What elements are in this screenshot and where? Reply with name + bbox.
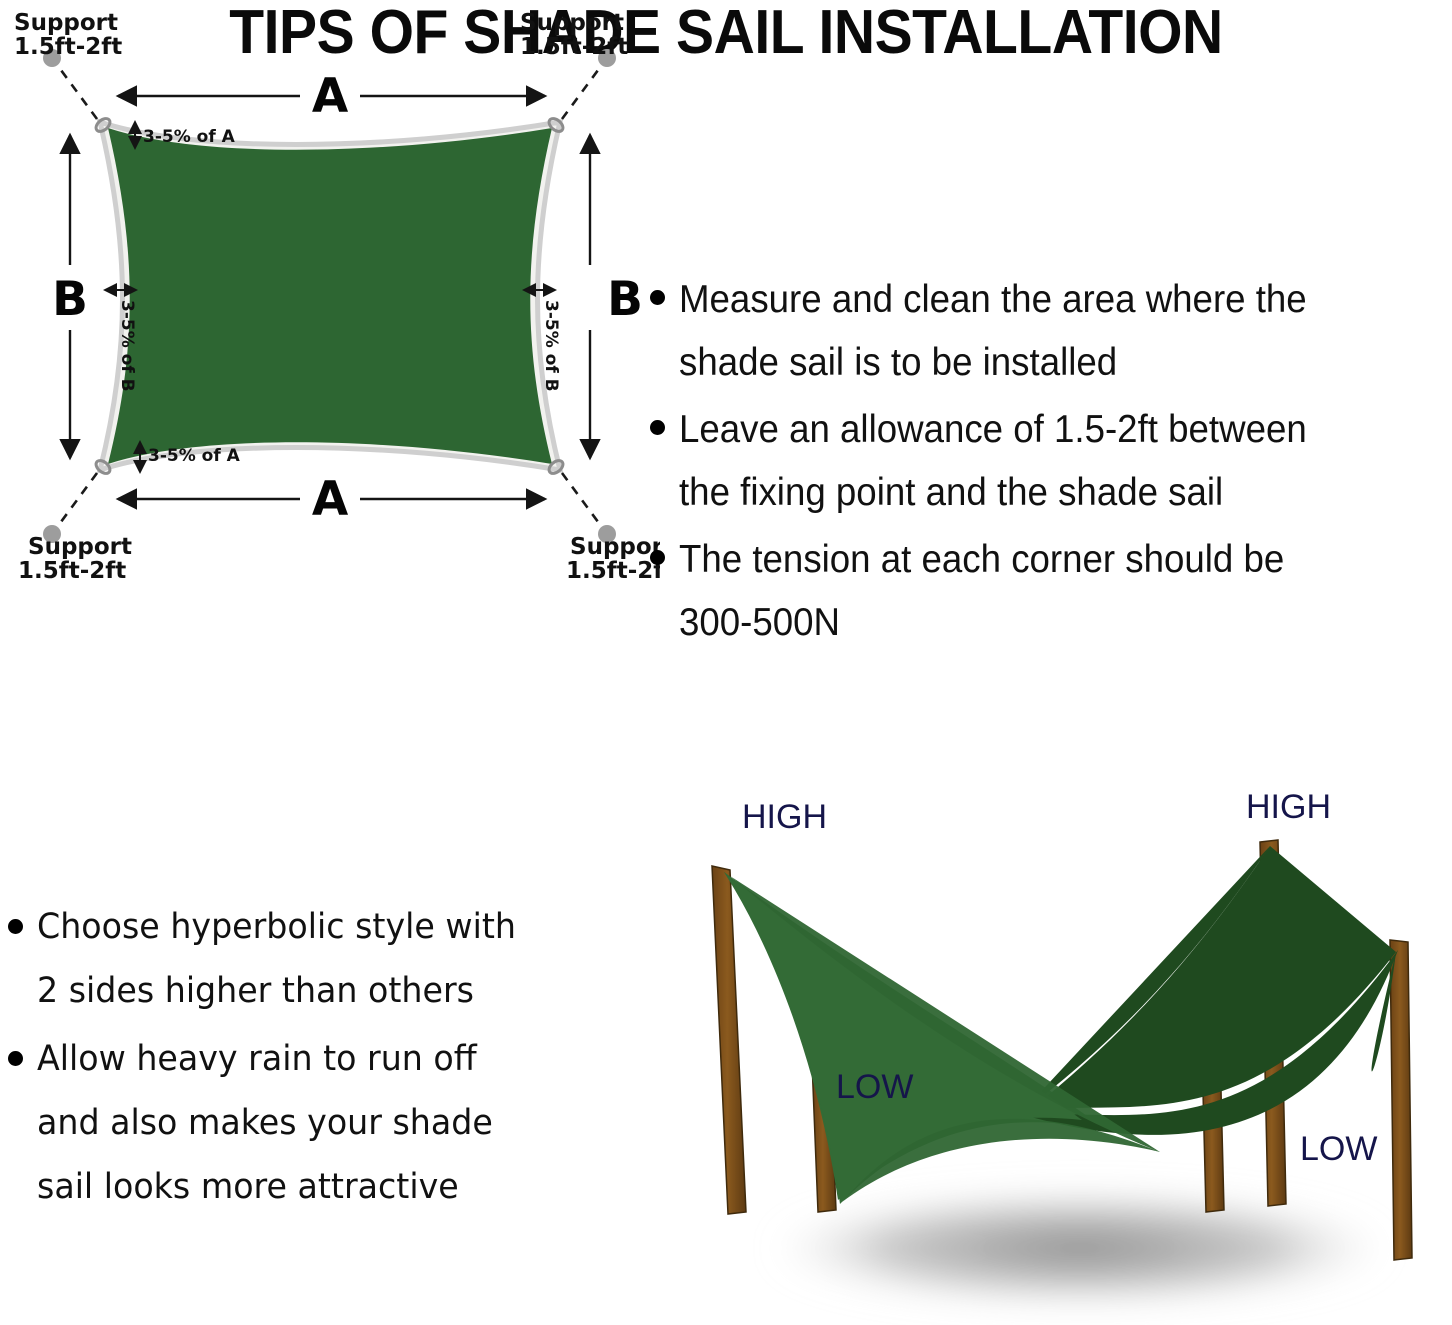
dimension-label-right-B: B bbox=[607, 272, 643, 327]
list-item: The tension at each corner should be 300… bbox=[650, 528, 1452, 654]
list-item: Measure and clean the area where the sha… bbox=[650, 268, 1452, 394]
support-label-bottom-right: Support 1.5ft-2ft bbox=[566, 534, 660, 580]
support-label-line2: 1.5ft-2ft bbox=[566, 558, 660, 580]
post-left-high bbox=[712, 866, 746, 1214]
bullet-dot-icon bbox=[650, 290, 665, 305]
support-label-top-right: Support 1.5ft-2ft bbox=[520, 10, 628, 60]
support-label-line2: 1.5ft-2ft bbox=[520, 34, 628, 60]
hyperbolic-sail-diagram: HIGH HIGH LOW LOW bbox=[690, 780, 1452, 1325]
curve-callout-bottom: 3-5% of A bbox=[140, 442, 241, 472]
bullet-dot-icon bbox=[650, 550, 665, 565]
support-label-bottom-left: Support 1.5ft-2ft bbox=[18, 534, 132, 580]
post-front-right-low bbox=[1390, 940, 1412, 1260]
tip-text: Allow heavy rain to run off and also mak… bbox=[37, 1027, 493, 1219]
corner-label-right-low: LOW bbox=[1300, 1130, 1377, 1168]
list-item: Choose hyperbolic style with 2 sides hig… bbox=[8, 895, 628, 1023]
ground-shadow bbox=[780, 1193, 1380, 1303]
support-label-line1: Support bbox=[14, 10, 118, 36]
curve-callout-bottom-label: 3-5% of A bbox=[148, 446, 241, 466]
tip-text: Leave an allowance of 1.5-2ft between th… bbox=[679, 398, 1307, 524]
support-label-line2: 1.5ft-2ft bbox=[14, 34, 122, 60]
support-label-line1: Support bbox=[28, 534, 132, 560]
list-item: Leave an allowance of 1.5-2ft between th… bbox=[650, 398, 1452, 524]
curve-callout-top: 3-5% of A bbox=[135, 122, 236, 148]
support-label-top-left: Support 1.5ft-2ft bbox=[14, 10, 122, 60]
bullet-dot-icon bbox=[650, 420, 665, 435]
curve-callout-top-label: 3-5% of A bbox=[143, 127, 236, 147]
installation-tips-list-bottom: Choose hyperbolic style with 2 sides hig… bbox=[8, 895, 628, 1223]
rectangular-sail-diagram: Support 1.5ft-2ft Support 1.5ft-2ft Supp… bbox=[0, 0, 660, 580]
curve-callout-right-label: 3-5% of B bbox=[541, 300, 561, 392]
curve-callout-left: 3-5% of B bbox=[105, 290, 137, 392]
bullet-dot-icon bbox=[8, 1051, 23, 1066]
tip-text: Measure and clean the area where the sha… bbox=[679, 268, 1307, 394]
support-label-line1: Support bbox=[570, 534, 660, 560]
sail-surface-dark bbox=[1030, 846, 1396, 1110]
tip-text: Choose hyperbolic style with 2 sides hig… bbox=[37, 895, 516, 1023]
shade-sail-instruction-page: TIPS OF SHADE SAIL INSTALLATION bbox=[0, 0, 1452, 1325]
curve-callout-left-label: 3-5% of B bbox=[117, 300, 137, 392]
dimension-label-bottom-A: A bbox=[312, 472, 349, 527]
corner-label-right-high: HIGH bbox=[1246, 788, 1331, 826]
support-label-line2: 1.5ft-2ft bbox=[18, 558, 126, 580]
installation-tips-list-top: Measure and clean the area where the sha… bbox=[650, 268, 1452, 658]
tip-text: The tension at each corner should be 300… bbox=[679, 528, 1284, 654]
bullet-dot-icon bbox=[8, 919, 23, 934]
shade-sail-body bbox=[108, 128, 552, 464]
list-item: Allow heavy rain to run off and also mak… bbox=[8, 1027, 628, 1219]
dimension-label-left-B: B bbox=[52, 272, 88, 327]
dimension-label-top-A: A bbox=[312, 69, 349, 124]
corner-label-left-high: HIGH bbox=[742, 798, 827, 836]
support-label-line1: Support bbox=[520, 10, 624, 36]
corner-label-left-low: LOW bbox=[836, 1068, 913, 1106]
